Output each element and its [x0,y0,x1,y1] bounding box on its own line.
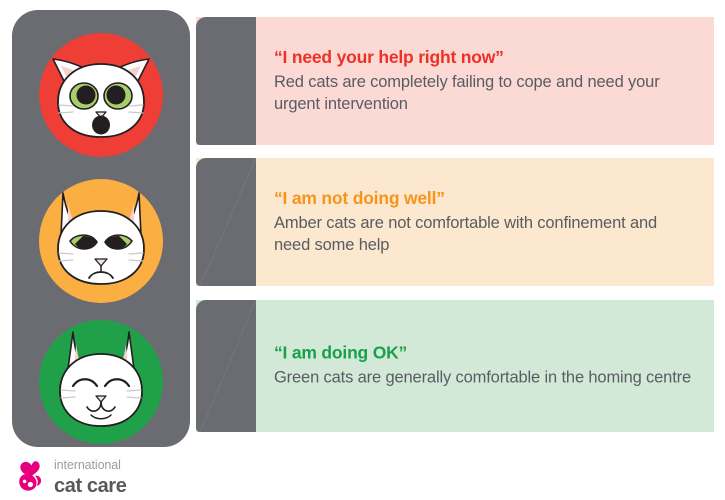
message-panel-amber: “I am not doing well” Amber cats are not… [196,158,714,286]
traffic-light-housing [12,10,190,447]
message-panel-red: “I need your help right now” Red cats ar… [196,17,714,145]
panel-heading-red: “I need your help right now” [274,47,694,69]
brand-logo: international cat care [14,458,184,496]
shocked-cat-face-icon [39,33,163,157]
panel-text-green: “I am doing OK” Green cats are generally… [274,343,694,390]
panel-body-amber: Amber cats are not comfortable with conf… [274,213,694,257]
logo-line-catcare: cat care [54,476,126,496]
infographic-canvas: “I need your help right now” Red cats ar… [0,0,725,500]
traffic-light-lamp-amber [39,179,163,303]
sad-cat-face-icon [39,179,163,303]
panel-text-amber: “I am not doing well” Amber cats are not… [274,188,694,256]
panel-body-red: Red cats are completely failing to cope … [274,72,694,116]
traffic-light-lamp-red [39,33,163,157]
happy-cat-face-icon [39,320,163,444]
panel-text-red: “I need your help right now” Red cats ar… [274,47,694,115]
message-panel-green: “I am doing OK” Green cats are generally… [196,300,714,432]
panel-heading-amber: “I am not doing well” [274,188,694,210]
cat-heart-logo-icon [14,458,50,494]
panel-body-green: Green cats are generally comfortable in … [274,368,694,390]
traffic-light-lamp-green [39,320,163,444]
logo-line-international: international [54,459,126,472]
panel-heading-green: “I am doing OK” [274,343,694,365]
logo-wordmark: international cat care [54,459,126,496]
